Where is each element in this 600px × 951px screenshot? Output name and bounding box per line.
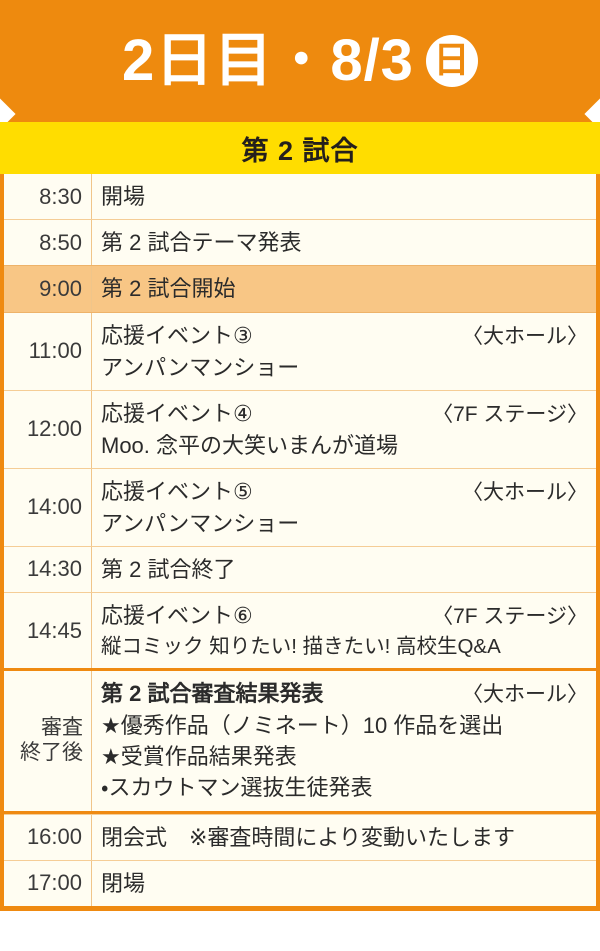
row-time-cell: 9:00 [4, 266, 92, 311]
row-content-cell: 応援イベント⑥〈7F ステージ〉縦コミック 知りたい! 描きたい! 高校生Q&A [92, 593, 596, 668]
row-time-cell: 8:30 [4, 174, 92, 219]
row-content-line: 第 2 試合開始 [101, 273, 588, 304]
table-row: 16:00閉会式 ※審査時間により変動いたします [4, 814, 596, 860]
row-content-line: ★受賞作品結果発表 [101, 741, 588, 772]
row-time-text: 終了後 [20, 741, 83, 766]
row-content-line: Moo. 念平の大笑いまんが道場 [101, 430, 588, 461]
section-band: 第 2 試合 [0, 122, 600, 174]
notch-left-decoration [0, 98, 16, 122]
row-activity-label: 応援イベント④ [101, 398, 253, 429]
schedule-poster: 2日目 ・ 8/3 日 第 2 試合 8:30開場8:50第 2 試合テーマ発表… [0, 0, 600, 951]
row-activity-label: アンパンマンショー [101, 352, 299, 383]
table-row: 14:00応援イベント⑤〈大ホール〉アンパンマンショー [4, 468, 596, 546]
row-content-line: アンパンマンショー [101, 508, 588, 539]
row-time-text: 14:00 [27, 494, 82, 520]
row-time-text: 14:45 [27, 618, 82, 644]
table-row: 17:00閉場 [4, 860, 596, 906]
row-content-cell: 第 2 試合終了 [92, 547, 596, 592]
row-content-cell: 第 2 試合開始 [92, 266, 596, 311]
row-venue-label: 〈7F ステージ〉 [422, 602, 588, 632]
row-time-cell: 17:00 [4, 861, 92, 906]
row-activity-label: 応援イベント⑤ [101, 476, 253, 507]
row-venue-label: 〈7F ステージ〉 [422, 400, 588, 430]
row-content-line: 開場 [101, 181, 588, 212]
schedule-table: 8:30開場8:50第 2 試合テーマ発表9:00第 2 試合開始11:00応援… [0, 174, 600, 911]
table-row: 審査終了後第 2 試合審査結果発表〈大ホール〉★優秀作品（ノミネート）10 作品… [4, 668, 596, 814]
row-content-line: 閉場 [101, 868, 588, 899]
row-content-cell: 閉会式 ※審査時間により変動いたします [92, 815, 596, 860]
table-row: 11:00応援イベント③〈大ホール〉アンパンマンショー [4, 312, 596, 390]
table-row: 12:00応援イベント④〈7F ステージ〉Moo. 念平の大笑いまんが道場 [4, 390, 596, 468]
row-activity-label: ・スカウトマン選抜生徒発表 [101, 772, 372, 803]
weekday-badge: 日 [426, 35, 478, 87]
row-content-line: 閉会式 ※審査時間により変動いたします [101, 822, 588, 853]
row-time-text: 9:00 [39, 276, 82, 302]
row-content-cell: 開場 [92, 174, 596, 219]
row-activity-label: 第 2 試合審査結果発表 [101, 678, 323, 709]
row-activity-label: ★受賞作品結果発表 [101, 741, 297, 772]
row-activity-label: 閉場 [101, 868, 145, 899]
row-content-line: 応援イベント⑥〈7F ステージ〉 [101, 600, 588, 632]
table-row: 8:50第 2 試合テーマ発表 [4, 219, 596, 265]
row-content-line: 応援イベント③〈大ホール〉 [101, 320, 588, 352]
row-time-text: 審査 [41, 716, 83, 741]
table-row: 14:30第 2 試合終了 [4, 546, 596, 592]
row-time-text: 11:00 [29, 338, 82, 364]
row-time-cell: 14:30 [4, 547, 92, 592]
table-row: 9:00第 2 試合開始 [4, 265, 596, 311]
notch-right-decoration [584, 98, 600, 122]
row-activity-label: アンパンマンショー [101, 508, 299, 539]
title-separator: ・ [275, 35, 328, 87]
row-content-cell: 閉場 [92, 861, 596, 906]
row-activity-label: 閉会式 ※審査時間により変動いたします [101, 822, 515, 853]
page-title: 2日目 ・ 8/3 日 [122, 32, 478, 90]
row-activity-label: Moo. 念平の大笑いまんが道場 [101, 430, 398, 461]
row-time-text: 16:00 [27, 824, 82, 850]
row-time-text: 8:50 [39, 230, 82, 256]
row-content-line: ・スカウトマン選抜生徒発表 [101, 772, 588, 803]
row-time-cell: 8:50 [4, 220, 92, 265]
row-content-line: 第 2 試合審査結果発表〈大ホール〉 [101, 678, 588, 710]
row-activity-label: 第 2 試合終了 [101, 554, 235, 585]
row-time-text: 8:30 [39, 184, 82, 210]
row-time-cell: 12:00 [4, 391, 92, 468]
row-content-line: 第 2 試合テーマ発表 [101, 227, 588, 258]
row-content-line: アンパンマンショー [101, 352, 588, 383]
row-activity-label: 縦コミック 知りたい! 描きたい! 高校生Q&A [101, 632, 501, 661]
section-band-label: 第 2 試合 [241, 129, 358, 168]
poster-header: 2日目 ・ 8/3 日 [0, 0, 600, 122]
table-row: 8:30開場 [4, 174, 596, 219]
row-content-line: 応援イベント④〈7F ステージ〉 [101, 398, 588, 430]
row-content-cell: 第 2 試合審査結果発表〈大ホール〉★優秀作品（ノミネート）10 作品を選出★受… [92, 671, 596, 811]
row-venue-label: 〈大ホール〉 [452, 478, 588, 508]
row-time-text: 12:00 [27, 416, 82, 442]
title-date-label: 8/3 [330, 32, 414, 90]
row-time-text: 17:00 [27, 870, 82, 896]
title-day-label: 2日目 [122, 32, 273, 90]
row-content-cell: 応援イベント⑤〈大ホール〉アンパンマンショー [92, 469, 596, 546]
row-venue-label: 〈大ホール〉 [452, 322, 588, 352]
row-content-line: ★優秀作品（ノミネート）10 作品を選出 [101, 710, 588, 741]
row-time-cell: 審査終了後 [4, 671, 92, 811]
row-activity-label: ★優秀作品（ノミネート）10 作品を選出 [101, 710, 503, 741]
row-time-text: 14:30 [27, 556, 82, 582]
table-row: 14:45応援イベント⑥〈7F ステージ〉縦コミック 知りたい! 描きたい! 高… [4, 592, 596, 668]
row-activity-label: 応援イベント⑥ [101, 600, 253, 631]
row-content-line: 縦コミック 知りたい! 描きたい! 高校生Q&A [101, 632, 588, 661]
row-content-cell: 応援イベント③〈大ホール〉アンパンマンショー [92, 313, 596, 390]
row-content-cell: 応援イベント④〈7F ステージ〉Moo. 念平の大笑いまんが道場 [92, 391, 596, 468]
row-time-cell: 14:45 [4, 593, 92, 668]
row-activity-label: 第 2 試合開始 [101, 273, 235, 304]
row-content-line: 第 2 試合終了 [101, 554, 588, 585]
row-content-line: 応援イベント⑤〈大ホール〉 [101, 476, 588, 508]
row-activity-label: 応援イベント③ [101, 320, 253, 351]
row-activity-label: 第 2 試合テーマ発表 [101, 227, 301, 258]
row-content-cell: 第 2 試合テーマ発表 [92, 220, 596, 265]
row-time-cell: 14:00 [4, 469, 92, 546]
row-time-cell: 11:00 [4, 313, 92, 390]
row-venue-label: 〈大ホール〉 [452, 680, 588, 710]
row-activity-label: 開場 [101, 181, 145, 212]
row-time-cell: 16:00 [4, 815, 92, 860]
